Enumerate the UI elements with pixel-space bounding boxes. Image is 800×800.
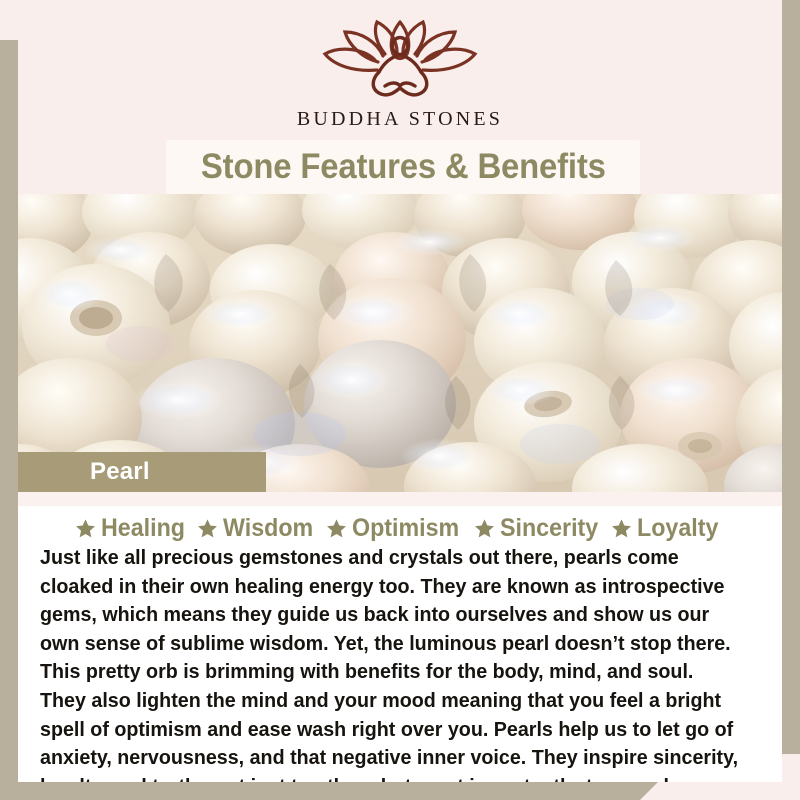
brand-name: BUDDHA STONES <box>18 108 782 131</box>
benefit-label: Healing <box>101 514 185 543</box>
pearl-photo <box>18 194 782 492</box>
benefit-item-healing: Healing <box>75 514 191 543</box>
benefit-label: Sincerity <box>500 514 598 543</box>
benefit-item-wisdom: Wisdom <box>197 514 320 543</box>
page-title-plate: Stone Features & Benefits <box>166 140 640 194</box>
benefit-label: Wisdom <box>223 514 313 543</box>
card-top-strip <box>18 492 782 506</box>
star-icon <box>197 518 218 539</box>
brand-header: BUDDHA STONES <box>18 0 782 140</box>
stone-name-text: Pearl <box>90 458 150 486</box>
benefit-label: Loyalty <box>637 514 718 543</box>
star-icon <box>611 518 632 539</box>
stone-description: Just like all precious gemstones and cry… <box>40 544 739 782</box>
benefit-item-sincerity: Sincerity <box>474 514 606 543</box>
benefit-item-loyalty: Loyalty <box>611 514 725 543</box>
star-icon <box>474 518 495 539</box>
page-title: Stone Features & Benefits <box>201 147 606 187</box>
benefit-item-optimism: Optimism <box>326 514 467 543</box>
poster-root: BUDDHA STONES Stone Features & Benefits <box>0 0 800 800</box>
stone-name-label: Pearl <box>18 452 266 492</box>
content-card: Healing Wisdom Optimism <box>18 492 782 782</box>
page-surface: BUDDHA STONES Stone Features & Benefits <box>18 0 782 782</box>
benefit-label: Optimism <box>352 514 459 543</box>
star-icon <box>326 518 347 539</box>
benefits-list: Healing Wisdom Optimism <box>18 514 782 543</box>
star-icon <box>75 518 96 539</box>
lotus-meditation-icon <box>315 16 485 100</box>
